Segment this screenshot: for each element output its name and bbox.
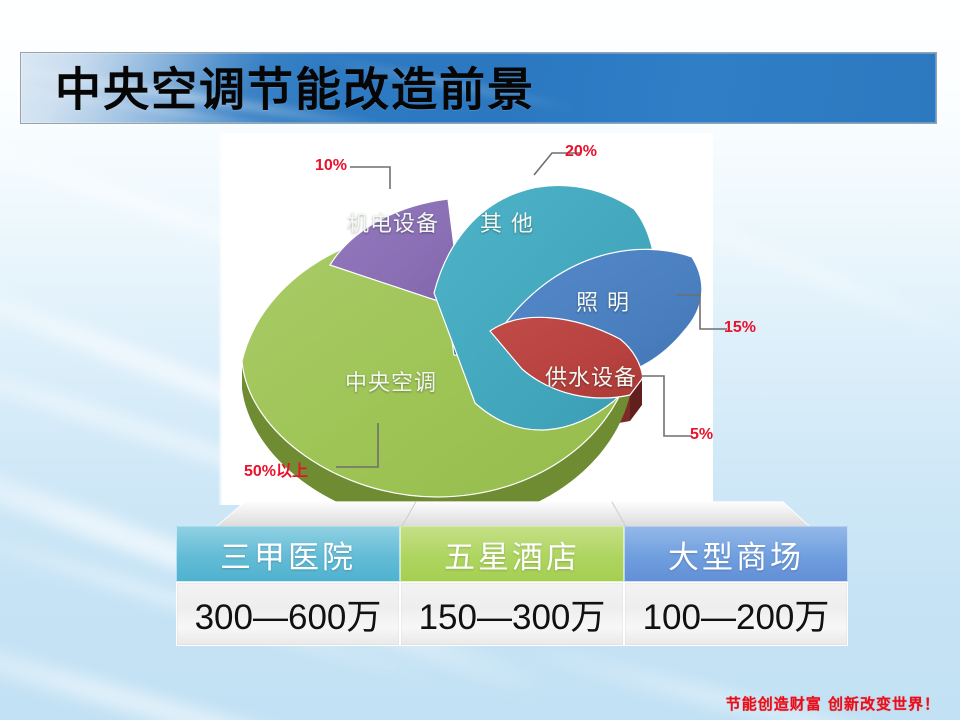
page-title: 中央空调节能改造前景 [55,54,535,120]
table-grid: 三甲医院 五星酒店 大型商场 300—600万 150—300万 100—200… [176,526,848,674]
table-header-hospital: 三甲医院 [176,526,400,582]
pie-chart-svg [222,133,742,505]
table-header-mall: 大型商场 [624,526,848,582]
pie-label-other: 其 他 [480,206,534,238]
table-value-mall: 100—200万 [624,582,848,646]
title-banner: 中央空调节能改造前景 [20,52,937,124]
pie-chart: 机电设备 其 他 照 明 供水设备 中央空调 20% 10% 15% 5% 50… [222,133,742,505]
comparison-table: 三甲医院 五星酒店 大型商场 300—600万 150—300万 100—200… [163,500,863,680]
pie-label-water-supply: 供水设备 [545,360,637,392]
pie-percent-central-ac: 50%以上 [244,457,308,481]
slide-canvas: 中央空调节能改造前景 [0,0,960,720]
pie-percent-other: 20% [565,143,597,161]
table-value-hotel: 150—300万 [400,582,624,646]
table-header-hotel: 五星酒店 [400,526,624,582]
pie-percent-lighting: 15% [724,319,756,337]
table-value-hospital: 300—600万 [176,582,400,646]
footer-slogan: 节能创造财富 创新改变世界！ [726,693,940,714]
pie-label-lighting: 照 明 [576,285,630,317]
leader-electromechanical [350,167,390,189]
pie-percent-electromechanical: 10% [315,157,347,175]
pie-label-central-ac: 中央空调 [345,365,437,397]
pie-percent-water-supply: 5% [690,426,713,444]
leader-water [641,376,692,436]
pie-label-electromechanical: 机电设备 [347,206,439,238]
